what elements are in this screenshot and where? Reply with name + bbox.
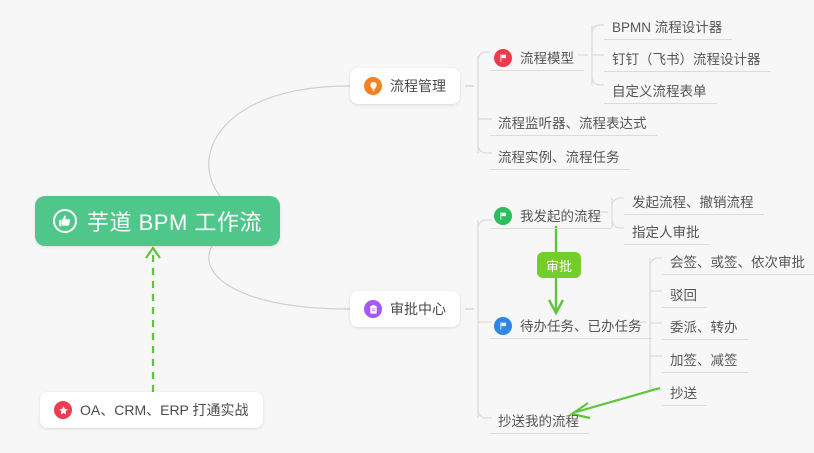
leaf-cc-my-process[interactable]: 抄送我的流程 — [490, 404, 589, 434]
node-todo-done-tasks[interactable]: 待办任务、已办任务 — [490, 309, 652, 339]
leaf-label: 加签、减签 — [670, 354, 738, 370]
leaf-process-listener[interactable]: 流程监听器、流程表达式 — [490, 106, 657, 136]
footer-link-arrow — [146, 248, 160, 392]
leaf-label: BPMN 流程设计器 — [612, 21, 722, 37]
leaf-label: 自定义流程表单 — [612, 85, 707, 101]
lightbulb-icon — [364, 77, 382, 95]
leaf-add-remove-sign[interactable]: 加签、减签 — [662, 343, 748, 373]
mindmap-canvas: 芋道 BPM 工作流 流程管理 流程模型 BPMN 流程设计器 钉钉（飞书）流程… — [0, 0, 814, 453]
branch-label: 流程管理 — [390, 76, 446, 96]
node-process-model[interactable]: 流程模型 — [490, 41, 584, 71]
leaf-label: 抄送 — [670, 387, 697, 403]
root-label: 芋道 BPM 工作流 — [87, 205, 262, 237]
root-node[interactable]: 芋道 BPM 工作流 — [35, 196, 280, 246]
leaf-label: 流程实例、流程任务 — [498, 151, 620, 167]
leaf-start-cancel-process[interactable]: 发起流程、撤销流程 — [624, 185, 764, 215]
leaf-label: 抄送我的流程 — [498, 415, 579, 431]
node-my-started-process[interactable]: 我发起的流程 — [490, 199, 611, 229]
leaf-label: 指定人审批 — [632, 226, 700, 242]
leaf-label: 会签、或签、依次审批 — [670, 256, 805, 272]
leaf-countersign[interactable]: 会签、或签、依次审批 — [662, 245, 814, 275]
annotation-label: 审批 — [546, 256, 572, 275]
leaf-process-instance[interactable]: 流程实例、流程任务 — [490, 140, 630, 170]
node-label: 待办任务、已办任务 — [520, 320, 642, 336]
flag-icon — [494, 49, 512, 67]
leaf-label: 委派、转办 — [670, 321, 738, 337]
leaf-custom-form[interactable]: 自定义流程表单 — [604, 74, 717, 104]
branch-approval-center[interactable]: 审批中心 — [350, 291, 460, 327]
annotation-approval-badge: 审批 — [537, 252, 581, 278]
flag-icon — [494, 317, 512, 335]
node-label: 我发起的流程 — [520, 210, 601, 226]
leaf-delegate-transfer[interactable]: 委派、转办 — [662, 310, 748, 340]
leaf-label: 驳回 — [670, 289, 697, 305]
footer-card-oa-crm-erp[interactable]: OA、CRM、ERP 打通实战 — [40, 392, 263, 428]
leaf-reject[interactable]: 驳回 — [662, 278, 707, 308]
clipboard-icon — [364, 300, 382, 318]
thumbs-up-icon — [53, 209, 77, 233]
leaf-dingtalk-designer[interactable]: 钉钉（飞书）流程设计器 — [604, 42, 771, 72]
branch-label: 审批中心 — [390, 299, 446, 319]
leaf-bpmn-designer[interactable]: BPMN 流程设计器 — [604, 10, 732, 40]
flag-icon — [494, 207, 512, 225]
star-icon — [54, 401, 72, 419]
leaf-assignee-approval[interactable]: 指定人审批 — [624, 215, 710, 245]
branch-process-management[interactable]: 流程管理 — [350, 68, 460, 104]
leaf-label: 流程监听器、流程表达式 — [498, 117, 647, 133]
footer-card-label: OA、CRM、ERP 打通实战 — [80, 400, 249, 420]
leaf-label: 钉钉（飞书）流程设计器 — [612, 53, 761, 69]
node-label: 流程模型 — [520, 52, 574, 68]
leaf-carbon-copy[interactable]: 抄送 — [662, 376, 707, 406]
leaf-label: 发起流程、撤销流程 — [632, 196, 754, 212]
